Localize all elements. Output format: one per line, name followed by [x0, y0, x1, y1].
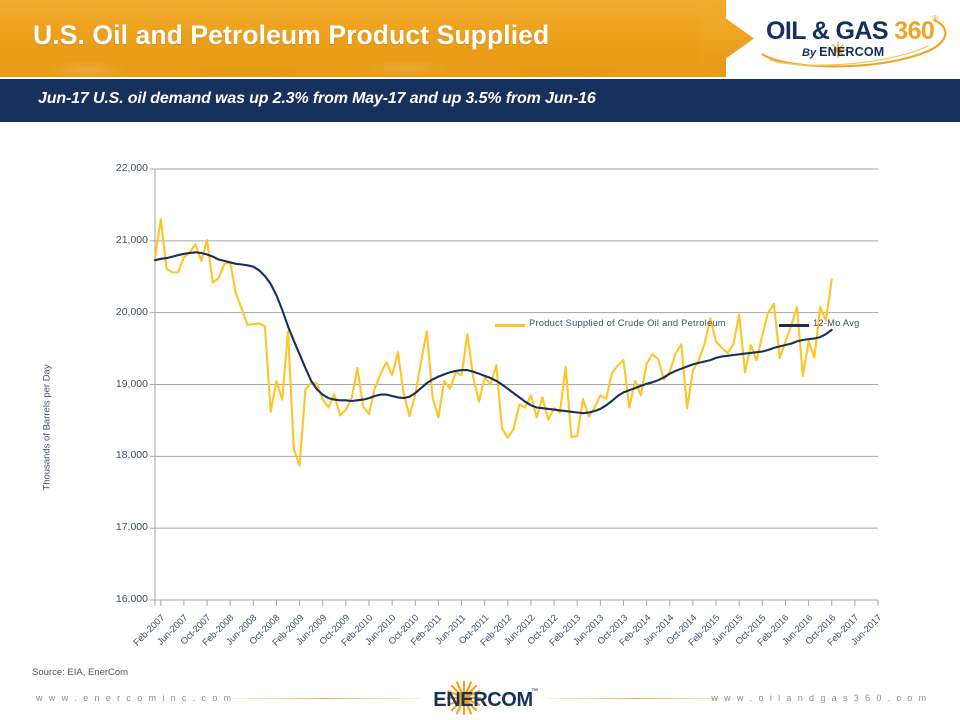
logo-registered-mark: ®: [932, 14, 938, 23]
subtitle-text: Jun-17 U.S. oil demand was up 2.3% from …: [38, 90, 596, 108]
footer-divider-right: [546, 698, 730, 699]
page-title: U.S. Oil and Petroleum Product Supplied: [33, 20, 549, 51]
logo-byline: By ENERCOM: [802, 45, 884, 59]
page-header: U.S. Oil and Petroleum Product Supplied …: [0, 0, 960, 77]
logo-enercom-text: ENERCOM: [819, 45, 884, 59]
oilandgas360-url[interactable]: w w w . o i l a n d g a s 3 6 0 . c o m: [711, 693, 928, 703]
logo-wordmark: OIL & GAS 360: [766, 17, 934, 46]
footer-divider-left: [232, 698, 420, 699]
footer-logo-wordmark: ENERCOM: [418, 689, 548, 712]
logo-oilgas-text: OIL & GAS: [766, 17, 894, 45]
oil-and-gas-360-logo[interactable]: OIL & GAS 360 ® By ENERCOM: [756, 4, 956, 74]
legend-swatch-navy: [779, 324, 809, 327]
legend-label-12mo-avg: 12-Mo Avg: [813, 318, 860, 328]
enercom-footer-logo[interactable]: ENERCOM ™: [418, 685, 548, 713]
logo-360-text: 360: [894, 17, 934, 45]
header-arrow-shape: [700, 0, 754, 77]
logo-by-text: By: [802, 47, 819, 59]
chart-container: Thousands of Barrels per Day 22,00021,00…: [0, 122, 960, 657]
subtitle-bar: Jun-17 U.S. oil demand was up 2.3% from …: [0, 79, 960, 122]
x-axis-tick-labels: Feb-2007Jun-2007Oct-2007Feb-2008Jun-2008…: [0, 122, 960, 657]
legend-swatch-yellow: [495, 324, 525, 327]
source-attribution: Source: EIA, EnerCom: [32, 667, 128, 678]
footer-logo-trademark: ™: [531, 688, 538, 695]
page-footer: Source: EIA, EnerCom w w w . e n e r c o…: [0, 657, 960, 720]
enercominc-url[interactable]: w w w . e n e r c o m i n c . c o m: [36, 693, 233, 703]
legend-label-product-supplied: Product Supplied of Crude Oil and Petrol…: [529, 318, 726, 328]
